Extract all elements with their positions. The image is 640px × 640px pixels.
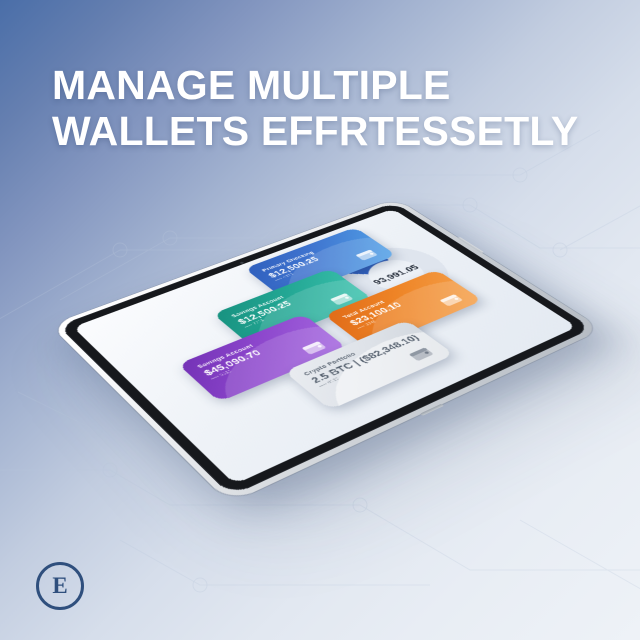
tablet-bezel: 93,991.05 Total Net Worth Primary Checki…: [58, 202, 593, 496]
page-title: MANAGE MULTIPLE WALLETS EFFRTESSETLY: [52, 62, 592, 154]
wallet-icon: [299, 339, 330, 356]
brand-logo-letter: E: [52, 573, 67, 599]
brand-logo: E: [36, 562, 84, 610]
wallet-icon: [406, 345, 438, 363]
card-account-number: •••• 5592: [210, 370, 234, 381]
headline-line-1: MANAGE MULTIPLE: [52, 62, 451, 108]
card-label: Crypto Portfolio: [302, 351, 357, 377]
wallet-card-crypto-portfolio[interactable]: Crypto Portfolio 2.5 BTC | ($82,348.10) …: [284, 320, 454, 410]
tablet-screen: 93,991.05 Total Net Worth Primary Checki…: [73, 209, 577, 485]
card-account-number: •••• 0162: [318, 377, 341, 389]
headline-line-2: WALLETS EFFRTESSETLY: [52, 108, 592, 154]
card-label: Savings Account: [195, 343, 254, 369]
card-amount: 2.5 BTC | ($82,348.10): [309, 333, 422, 385]
promo-scene: 93,991.05 Total Net Worth Primary Checki…: [0, 0, 640, 640]
tablet-device: 93,991.05 Total Net Worth Primary Checki…: [58, 202, 593, 496]
